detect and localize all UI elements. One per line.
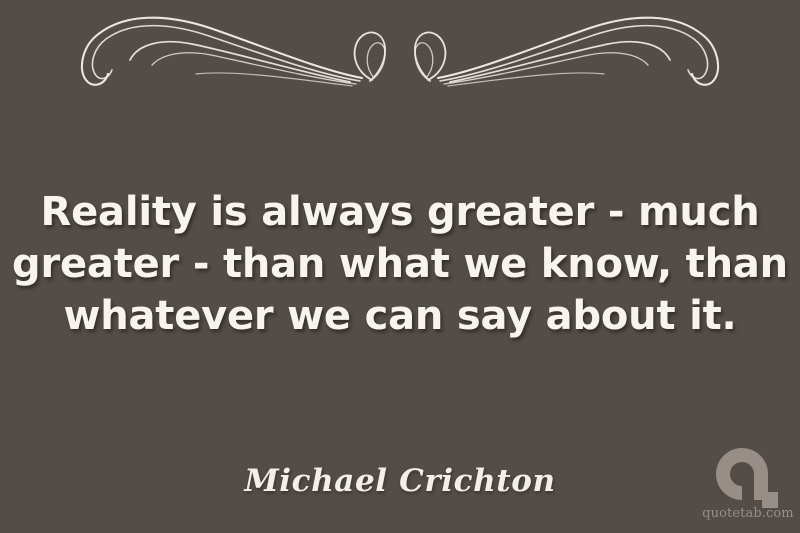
flourish-divider-ornament <box>0 8 800 96</box>
quote-text: Reality is always greater - much greater… <box>0 186 800 342</box>
quote-image-canvas: Reality is always greater - much greater… <box>0 0 800 533</box>
quote-line: whatever we can say about it. <box>0 290 800 342</box>
quote-line: greater - than what we know, than <box>0 238 800 290</box>
quote-line: Reality is always greater - much <box>0 186 800 238</box>
quotetab-q-logo-icon[interactable] <box>712 444 784 508</box>
watermark-site-label: quotetab.com <box>700 506 796 521</box>
watermark[interactable]: quotetab.com <box>700 444 796 526</box>
quote-author: Michael Crichton <box>0 462 800 500</box>
